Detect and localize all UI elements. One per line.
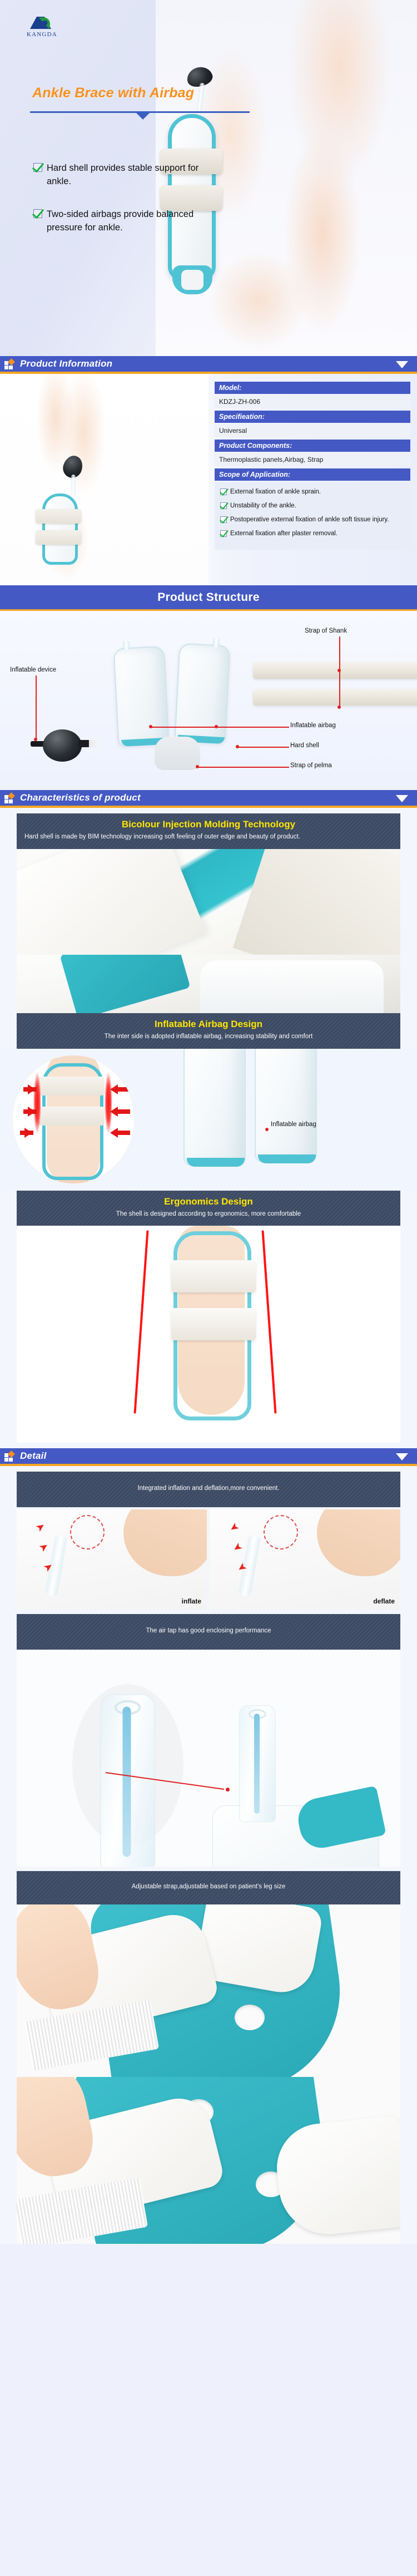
hard-shell-graphic [42,494,78,565]
spec-label-specification: Specifieation: [215,411,410,423]
leader-dot [265,1128,269,1131]
caption-text: Hard shell is made by BIM technology inc… [24,832,393,842]
label-inflatable-airbag: Inflatable airbag [290,722,336,729]
caption-title: Bicolour Injection Molding Technology [24,819,393,830]
hero-bullet-list: Hard shell provides stable support for a… [33,161,217,254]
sole-graphic [172,265,212,294]
airbag-pressure-illustration: Inflatable airbag [0,1049,417,1191]
pressure-arrow-right [110,1084,118,1094]
kangda-logo: KANGDA [22,12,61,38]
spec-label-scope: Scope of Application: [215,468,410,481]
label-hard-shell: Hard shell [290,742,319,749]
scope-item-text: Postoperative external fixation of ankle… [230,515,389,524]
photo-deflate: ➤ ➤ ➤ deflate [210,1509,400,1610]
product-detail-page: KANGDA Ankle Brace with Airbag Hard shel… [0,0,417,2244]
caption-adjustable-strap: Adjustable strap,adjustable based on pat… [17,1871,400,1904]
scope-of-application-list: External fixation of ankle sprain. Unsta… [215,482,410,550]
caption-air-tap: The air tap has good enclosing performan… [17,1614,400,1650]
leader-dot [337,669,341,672]
check-icon [220,530,227,537]
caption-text: Adjustable strap,adjustable based on pat… [24,1877,393,1898]
airbag-graphic-left [113,646,169,747]
spec-value-specification: Universal [215,424,410,437]
hero-bullet-item: Hard shell provides stable support for a… [33,161,217,189]
pressure-arrow-right [110,1107,118,1117]
grid-diamond-icon [4,359,15,369]
chevron-down-icon[interactable] [396,361,408,368]
leader-dot [196,765,199,768]
hero-title: Ankle Brace with Airbag [32,85,194,101]
leader-line [238,747,289,748]
caption-bicolour-injection: Bicolour Injection Molding Technology Ha… [17,813,400,849]
leader-dot [215,725,218,728]
caption-text: The air tap has good enclosing performan… [24,1620,393,1643]
spec-value-model: KDZJ-ZH-006 [215,395,410,408]
leader-line [150,727,289,728]
leader-dot [337,705,341,709]
grid-diamond-icon [4,793,15,803]
check-icon [220,488,227,495]
leader-line [198,767,289,768]
hero-bullet-text: Two-sided airbags provide balanced press… [47,208,217,235]
hero-bullet-text: Hard shell provides stable support for a… [47,161,217,189]
label-inflatable-device: Inflatable device [10,667,56,673]
leader-dot [226,1788,230,1792]
air-valve-zoomed [100,1694,155,1867]
photo-adjustable-strap-1 [17,1904,400,2077]
detail-body: Integrated inflation and deflation,more … [0,1466,417,2243]
airbag-photo-left [183,1049,246,1166]
caption-text: Integrated inflation and deflation,more … [24,1477,393,1501]
scope-item-text: Unstability of the ankle. [230,501,296,510]
leader-dot [34,738,37,741]
pressure-arrow-left [24,1128,32,1138]
label-strap-of-pelma: Strap of pelma [290,762,332,769]
check-icon [33,209,42,218]
hero-divider [30,111,250,113]
scope-item-text: External fixation after plaster removal. [230,529,337,538]
hero-banner: KANGDA Ankle Brace with Airbag Hard shel… [0,0,417,356]
product-structure-diagram: Inflatable device Strap of Shank Inflata… [0,611,417,790]
pressure-arrow-right [110,1128,118,1138]
photo-bicolour-shell-closeup [17,849,400,955]
check-icon [220,502,227,509]
scope-list-item: Unstability of the ankle. [219,501,406,510]
caption-integrated-inflation: Integrated inflation and deflation,more … [17,1472,400,1507]
scope-list-item: External fixation of ankle sprain. [219,487,406,496]
chevron-down-icon[interactable] [396,1453,408,1460]
chevron-down-icon[interactable] [396,795,408,802]
caption-text: The shell is designed according to ergon… [24,1210,393,1220]
product-information-photo [0,374,209,585]
pressure-arrow-left [28,1084,36,1094]
leader-line [36,675,37,739]
characteristics-body: Bicolour Injection Molding Technology Ha… [0,808,417,1448]
contour-line-left [133,1231,148,1414]
photo-adjustable-strap-2 [17,2077,400,2244]
leader-dot [236,745,239,748]
airbag-graphic-right [174,643,230,744]
photo-bicolour-shell-closeup-2 [17,955,400,1013]
section-title: Detail [20,1450,47,1462]
arrow-down-icon: ➤ [228,1521,241,1534]
svg-text:KANGDA: KANGDA [27,31,57,38]
brace-on-leg-graphic [38,494,86,577]
section-header-characteristics[interactable]: Characteristics of product [0,790,417,808]
leader-dot [149,725,152,728]
section-header-product-structure: Product Structure [0,585,417,611]
check-icon [33,163,42,172]
pressure-arc-right [105,1072,112,1133]
pump-graphic [63,450,87,495]
scope-item-text: External fixation of ankle sprain. [230,487,321,496]
hero-bullet-item: Two-sided airbags provide balanced press… [33,208,217,235]
highlight-circle [70,1515,105,1549]
grid-diamond-icon [4,1451,15,1461]
airbag-photo [212,1805,379,1867]
shank-strap-graphic-upper [253,662,417,679]
arrow-up-icon: ➤ [34,1521,47,1534]
section-header-detail[interactable]: Detail [0,1448,417,1466]
section-title: Characteristics of product [20,792,141,803]
caption-ergonomics-design: Ergonomics Design The shell is designed … [17,1191,400,1226]
specification-table: Model: KDZJ-ZH-006 Specifieation: Univer… [215,382,410,550]
scope-list-item: Postoperative external fixation of ankle… [219,515,406,524]
section-title: Product Structure [157,591,260,604]
caption-title: Inflatable Airbag Design [24,1019,393,1030]
spec-label-model: Model: [215,382,410,394]
arrow-up-icon: ➤ [38,1541,51,1555]
spec-value-components: Thermoplastic panels,Airbag, Strap [215,453,410,466]
caption-title: Ergonomics Design [24,1196,393,1207]
check-icon [220,516,227,523]
label-strap-of-shank: Strap of Shank [305,628,347,634]
arrow-down-icon: ➤ [231,1541,244,1555]
contour-line-right [261,1231,276,1414]
pressure-diagram-oval [12,1055,135,1183]
pressure-arrow-left [28,1107,36,1117]
pelma-strap-graphic [155,737,200,770]
shank-strap-graphic-lower [253,689,417,705]
pressure-arc-left [33,1072,41,1133]
inflatable-device-graphic [31,727,103,760]
photo-air-tap-closeup [17,1650,400,1867]
label-deflate: deflate [373,1597,395,1605]
photo-inflate: ➤ ➤ ➤ inflate [17,1509,207,1610]
caption-text: The inter side is adopted inflatable air… [24,1032,393,1042]
airbag-photo-right [255,1049,317,1162]
caption-inflatable-airbag-design: Inflatable Airbag Design The inter side … [17,1013,400,1049]
label-inflate: inflate [182,1597,201,1605]
label-inflatable-airbag: Inflatable airbag [271,1121,316,1128]
air-valve-actual [239,1705,276,1822]
section-title: Product Information [20,358,112,369]
scope-list-item: External fixation after plaster removal. [219,529,406,538]
spec-label-components: Product Components: [215,440,410,452]
strap-graphic-lower [36,530,81,545]
inflate-deflate-photo-row: ➤ ➤ ➤ inflate ➤ ➤ ➤ deflate [17,1509,400,1610]
section-header-product-information[interactable]: Product Information [0,356,417,374]
strap-graphic-upper [36,509,81,524]
highlight-circle [264,1515,298,1549]
photo-ergonomics-brace-on-leg [17,1226,400,1443]
leader-line [339,636,340,708]
product-information-body: Model: KDZJ-ZH-006 Specifieation: Univer… [0,374,417,585]
